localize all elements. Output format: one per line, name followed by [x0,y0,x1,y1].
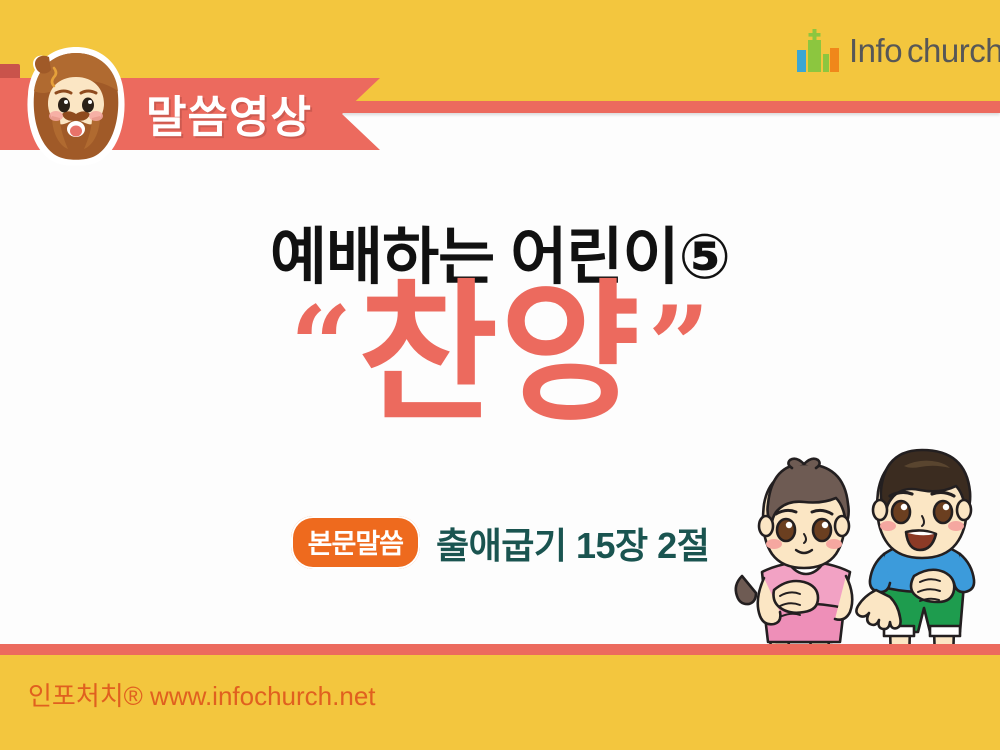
brand-logo-text: Infochurch [849,32,1000,70]
status-badge: 본문말씀 [291,516,420,569]
info-church-bar-cross-icon [795,28,843,74]
bearded-man-face-icon [18,44,134,170]
open-quote-mark: “ [290,292,352,400]
slide-canvas: Infochurch 말씀영상 [0,0,1000,750]
scripture-reference: 출애굽기 15장 2절 [436,517,709,569]
brand-logo-text-info: Info [849,32,902,69]
ribbon-fold [0,64,20,80]
footer-credit: 인포처치® www.infochurch.net [28,676,376,713]
brand-logo-text-church: church [907,32,1000,69]
close-quote-mark: ” [648,292,710,400]
ribbon-label: 말씀영상 [146,79,356,147]
brand-logo: Infochurch [795,26,975,76]
hero-heading: “찬양” [0,292,1000,430]
hero-keyword: 찬양 [358,278,642,430]
footer-divider-stripe [0,644,1000,655]
